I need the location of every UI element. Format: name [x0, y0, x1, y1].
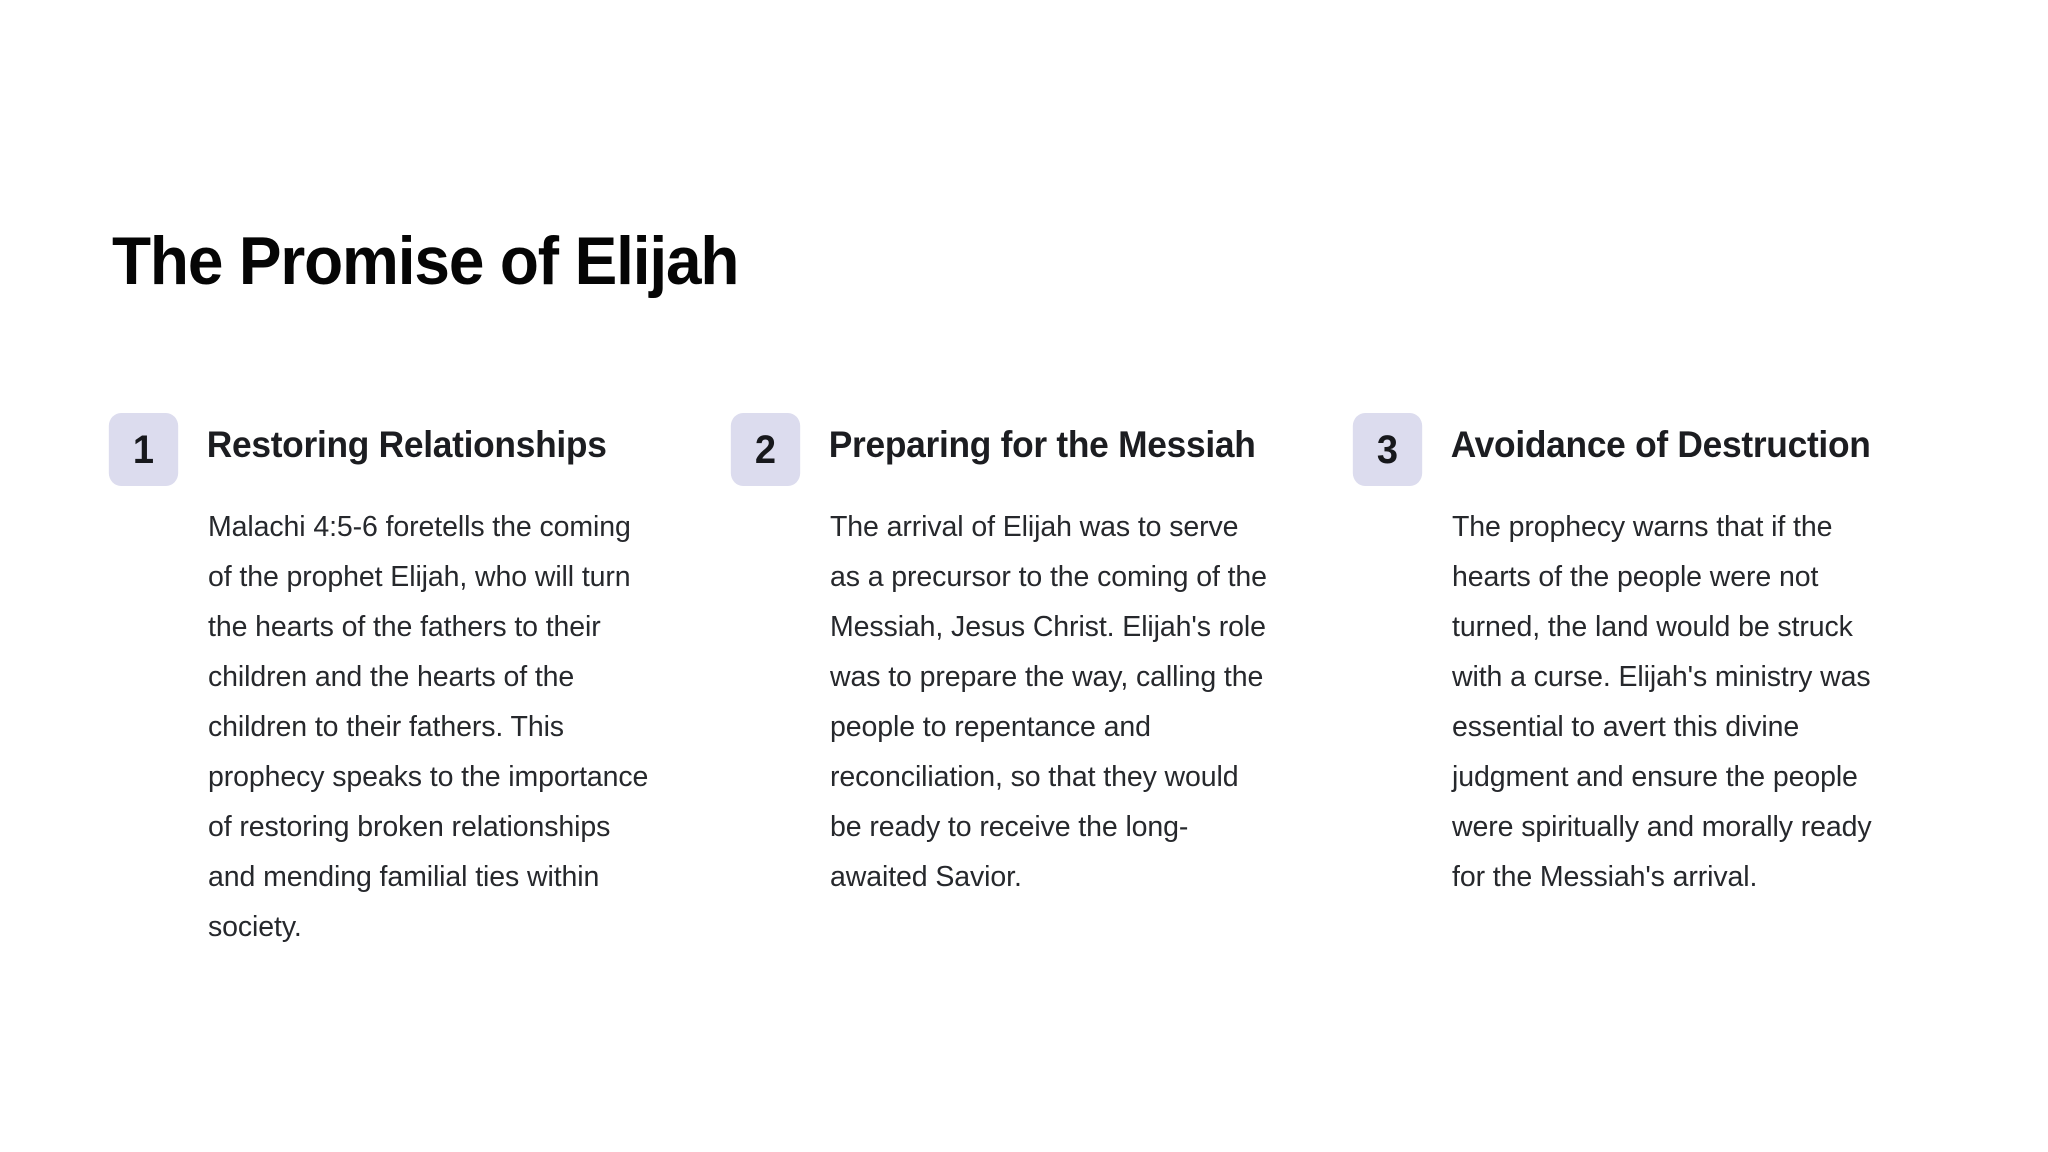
points-columns: 1 Restoring Relationships Malachi 4:5-6 …: [107, 413, 1977, 952]
point-body-1: Malachi 4:5-6 foretells the coming of th…: [107, 486, 654, 952]
number-badge-1: 1: [109, 413, 178, 486]
point-body-2: The arrival of Elijah was to serve as a …: [729, 486, 1276, 902]
point-header-3: 3 Avoidance of Destruction: [1351, 413, 1898, 486]
point-heading-1: Restoring Relationships: [180, 413, 607, 467]
point-column-3: 3 Avoidance of Destruction The prophecy …: [1351, 413, 1973, 902]
number-badge-3: 3: [1353, 413, 1422, 486]
point-column-1: 1 Restoring Relationships Malachi 4:5-6 …: [107, 413, 729, 952]
slide-canvas: The Promise of Elijah 1 Restoring Relati…: [0, 0, 2048, 1152]
point-body-3: The prophecy warns that if the hearts of…: [1351, 486, 1898, 902]
point-header-2: 2 Preparing for the Messiah: [729, 413, 1276, 486]
point-header-1: 1 Restoring Relationships: [107, 413, 654, 486]
page-title: The Promise of Elijah: [112, 222, 738, 300]
number-badge-2: 2: [731, 413, 800, 486]
point-heading-2: Preparing for the Messiah: [802, 413, 1256, 467]
point-heading-3: Avoidance of Destruction: [1424, 413, 1871, 467]
point-column-2: 2 Preparing for the Messiah The arrival …: [729, 413, 1351, 902]
